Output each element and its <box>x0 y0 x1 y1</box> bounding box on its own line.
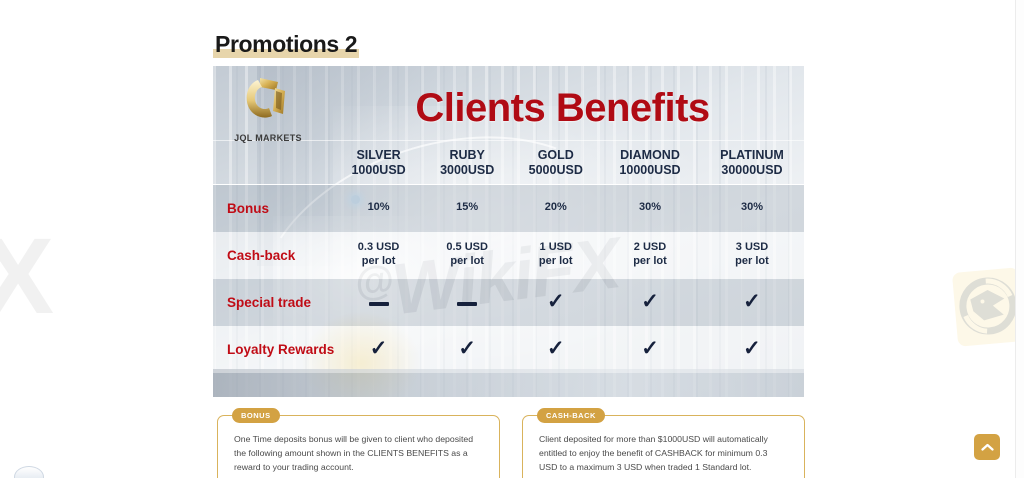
cell-bonus-3: 30% <box>600 185 700 232</box>
check-icon: ✓ <box>743 290 761 313</box>
check-icon: ✓ <box>547 337 565 360</box>
table-corner-cell <box>213 141 334 185</box>
table-row-bonus: Bonus 10% 15% 20% 30% <box>213 185 804 232</box>
table-row-loyalty-rewards: Loyalty Rewards ✓ ✓ ✓ ✓ ✓ <box>213 326 804 373</box>
column-name-1: RUBY <box>423 148 512 163</box>
cell-cashback-4-line1: 3 USD <box>700 241 804 255</box>
scroll-to-top-button[interactable] <box>974 434 1000 460</box>
check-icon: ✓ <box>547 290 565 313</box>
cell-bonus-2: 20% <box>511 185 600 232</box>
cell-cashback-0-line2: per lot <box>334 255 423 269</box>
chevron-up-icon <box>981 443 994 452</box>
row-label-bonus: Bonus <box>213 185 334 232</box>
check-icon: ✓ <box>458 337 476 360</box>
column-header-4: PLATINUM 30000USD <box>700 141 804 185</box>
table-body: Bonus 10% 15% 20% 30% <box>213 185 804 373</box>
page-title: Promotions 2 <box>213 31 359 58</box>
table-head: SILVER 1000USD RUBY 3000USD GOLD 5000USD… <box>213 141 804 185</box>
cell-cashback-4-line2: per lot <box>700 255 804 269</box>
column-amount-0: 1000USD <box>334 163 423 178</box>
info-box-cashback: CASH-BACK Client deposited for more than… <box>522 415 805 478</box>
cell-cashback-1-line2: per lot <box>423 255 512 269</box>
check-icon: ✓ <box>370 337 388 360</box>
cell-loyalty-3: ✓ <box>600 326 700 373</box>
info-box-bonus: BONUS One Time deposits bonus will be gi… <box>217 415 500 478</box>
cell-cashback-3-line1: 2 USD <box>600 241 700 255</box>
cell-cashback-2-line1: 1 USD <box>511 241 600 255</box>
cell-cashback-2: 1 USD per lot <box>511 232 600 279</box>
cell-special-trade-4: ✓ <box>700 279 804 326</box>
banner-title: Clients Benefits <box>213 86 804 131</box>
table-footer-band <box>213 369 804 397</box>
page-root: X Promotions 2 <box>0 0 1024 478</box>
column-amount-4: 30000USD <box>700 163 804 178</box>
column-name-4: PLATINUM <box>700 148 804 163</box>
dash-icon <box>457 302 477 306</box>
info-box-bonus-badge: BONUS <box>232 408 280 423</box>
cell-cashback-0-line1: 0.3 USD <box>334 241 423 255</box>
brand-logo-text: JQL MARKETS <box>225 133 311 143</box>
cell-cashback-3-line2: per lot <box>600 255 700 269</box>
row-label-special-trade: Special trade <box>213 279 334 326</box>
column-amount-1: 3000USD <box>423 163 512 178</box>
watermark-left-x: X <box>0 222 50 330</box>
column-header-0: SILVER 1000USD <box>334 141 423 185</box>
table-row-special-trade: Special trade ✓ ✓ ✓ <box>213 279 804 326</box>
column-header-1: RUBY 3000USD <box>423 141 512 185</box>
info-box-bonus-text: One Time deposits bonus will be given to… <box>218 416 499 474</box>
column-name-0: SILVER <box>334 148 423 163</box>
column-header-2: GOLD 5000USD <box>511 141 600 185</box>
cell-special-trade-2: ✓ <box>511 279 600 326</box>
cell-cashback-4: 3 USD per lot <box>700 232 804 279</box>
clients-benefits-banner: JQL MARKETS Clients Benefits SILVER 1000… <box>213 66 804 397</box>
dash-icon <box>369 302 389 306</box>
cell-bonus-4-line1: 30% <box>700 201 804 215</box>
cell-bonus-2-line1: 20% <box>511 201 600 215</box>
table-header-row: SILVER 1000USD RUBY 3000USD GOLD 5000USD… <box>213 141 804 185</box>
cell-bonus-0: 10% <box>334 185 423 232</box>
page-right-edge <box>1015 0 1024 478</box>
cell-loyalty-0: ✓ <box>334 326 423 373</box>
eagle-icon <box>956 274 1019 339</box>
watermark-right-eagle <box>952 267 1024 346</box>
cell-cashback-1: 0.5 USD per lot <box>423 232 512 279</box>
cell-special-trade-3: ✓ <box>600 279 700 326</box>
cell-loyalty-2: ✓ <box>511 326 600 373</box>
row-label-cashback: Cash-back <box>213 232 334 279</box>
row-label-loyalty-rewards: Loyalty Rewards <box>213 326 334 373</box>
check-icon: ✓ <box>743 337 761 360</box>
cell-special-trade-1 <box>423 279 512 326</box>
chat-widget-icon[interactable] <box>14 466 44 478</box>
column-amount-3: 10000USD <box>600 163 700 178</box>
table-row-cashback: Cash-back 0.3 USD per lot 0.5 USD per lo… <box>213 232 804 279</box>
cell-loyalty-1: ✓ <box>423 326 512 373</box>
page-title-text: Promotions 2 <box>213 31 359 58</box>
clients-benefits-table: SILVER 1000USD RUBY 3000USD GOLD 5000USD… <box>213 140 804 373</box>
cell-bonus-0-line1: 10% <box>334 201 423 215</box>
check-icon: ✓ <box>641 290 659 313</box>
cell-bonus-4: 30% <box>700 185 804 232</box>
cell-bonus-3-line1: 30% <box>600 201 700 215</box>
cell-cashback-2-line2: per lot <box>511 255 600 269</box>
cell-cashback-0: 0.3 USD per lot <box>334 232 423 279</box>
info-box-cashback-text: Client deposited for more than $1000USD … <box>523 416 804 478</box>
column-name-3: DIAMOND <box>600 148 700 163</box>
check-icon: ✓ <box>641 337 659 360</box>
cell-cashback-1-line1: 0.5 USD <box>423 241 512 255</box>
column-header-3: DIAMOND 10000USD <box>600 141 700 185</box>
column-amount-2: 5000USD <box>511 163 600 178</box>
cell-cashback-3: 2 USD per lot <box>600 232 700 279</box>
column-name-2: GOLD <box>511 148 600 163</box>
cell-loyalty-4: ✓ <box>700 326 804 373</box>
cell-bonus-1: 15% <box>423 185 512 232</box>
cell-bonus-1-line1: 15% <box>423 201 512 215</box>
info-box-cashback-badge: CASH-BACK <box>537 408 605 423</box>
cell-special-trade-0 <box>334 279 423 326</box>
